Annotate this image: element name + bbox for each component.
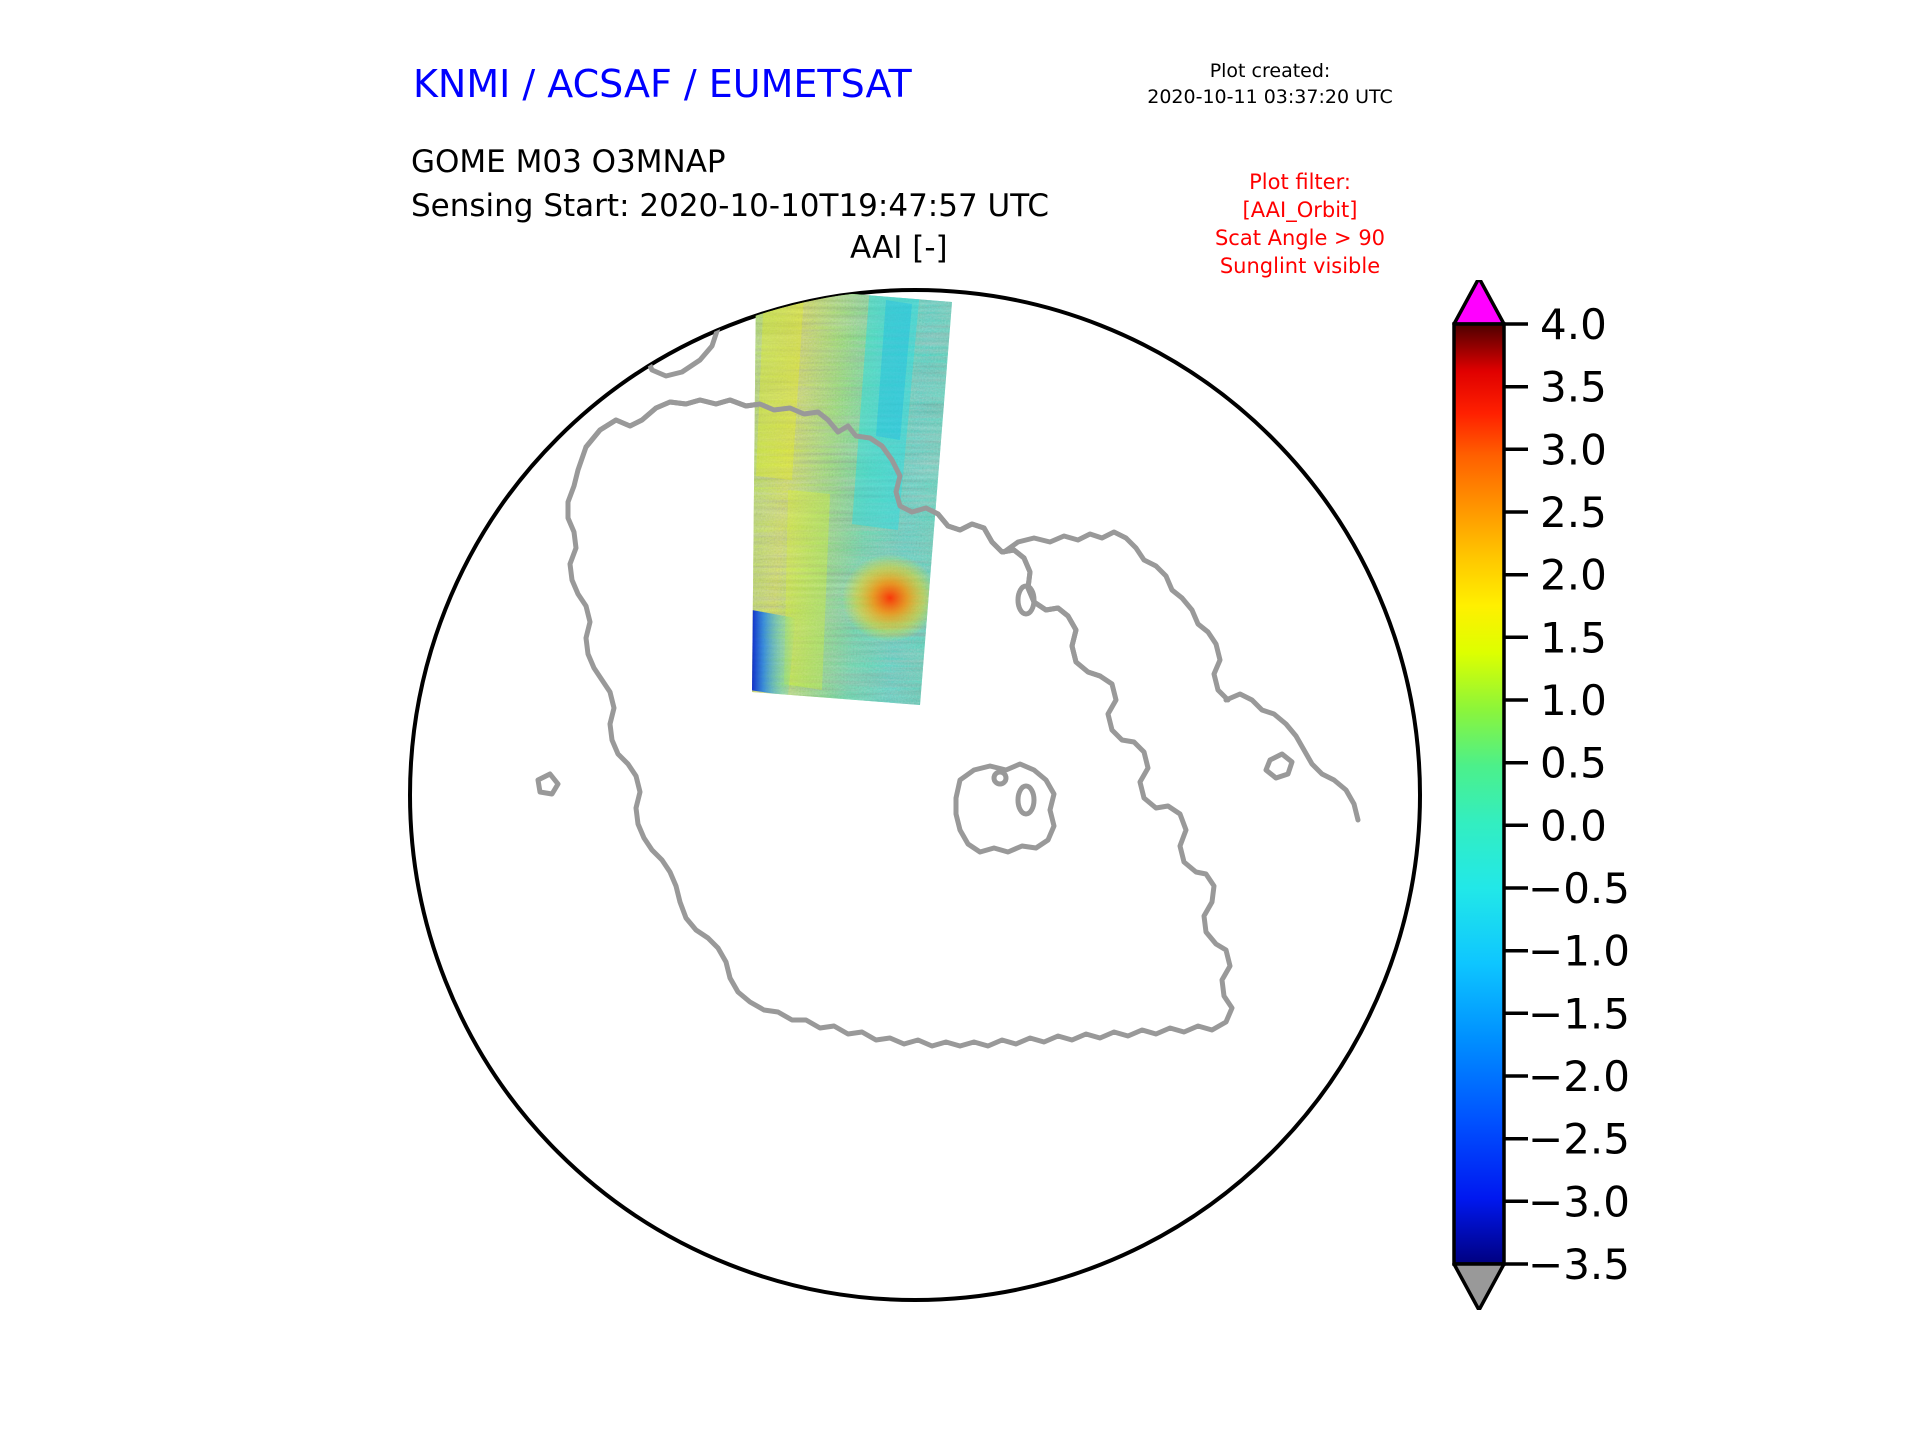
colorbar-over-range-arrow bbox=[1454, 280, 1504, 324]
plot-filter-line-1: [AAI_Orbit] bbox=[1150, 196, 1450, 224]
colorbar-gradient-bar bbox=[1454, 324, 1504, 1264]
plot-created-value: 2020-10-11 03:37:20 UTC bbox=[1100, 84, 1440, 110]
polar-stereographic-map bbox=[400, 280, 1430, 1310]
colorbar-tick-label: 0.5 bbox=[1540, 739, 1607, 788]
colorbar-tick-label: 4.0 bbox=[1540, 300, 1607, 349]
colorbar-tick-label: −1.5 bbox=[1528, 989, 1630, 1038]
plot-created-block: Plot created: 2020-10-11 03:37:20 UTC bbox=[1100, 58, 1440, 110]
colorbar-tick-label: −2.0 bbox=[1528, 1052, 1630, 1101]
plot-filter-label: Plot filter: bbox=[1150, 168, 1450, 196]
plot-created-label: Plot created: bbox=[1100, 58, 1440, 84]
colorbar-tick-label: −1.0 bbox=[1528, 927, 1630, 976]
colorbar-tick-label: 2.0 bbox=[1540, 551, 1607, 600]
map-panel bbox=[400, 280, 1430, 1310]
colorbar-under-range-arrow bbox=[1454, 1264, 1504, 1310]
colorbar-panel: 4.0 3.5 3.0 2.5 2.0 1.5 1.0 0.5 0.0 −0.5… bbox=[1440, 280, 1860, 1310]
colorbar-tick-label: 1.0 bbox=[1540, 676, 1607, 725]
colorbar-tick-label: 1.5 bbox=[1540, 613, 1607, 662]
colorbar-tick-label: 2.5 bbox=[1540, 488, 1607, 537]
colorbar-tick-label: 3.5 bbox=[1540, 363, 1607, 412]
coastline-new-zealand-north bbox=[714, 280, 740, 324]
plot-filter-line-2: Scat Angle > 90 bbox=[1150, 224, 1450, 252]
colorbar-tick-label: −3.5 bbox=[1528, 1240, 1630, 1289]
colorbar-tick-label: 0.0 bbox=[1540, 801, 1607, 850]
colorbar-tick-label: −3.0 bbox=[1528, 1177, 1630, 1226]
dataset-info-block: GOME M03 O3MNAP Sensing Start: 2020-10-1… bbox=[411, 140, 1049, 228]
colorbar: 4.0 3.5 3.0 2.5 2.0 1.5 1.0 0.5 0.0 −0.5… bbox=[1440, 280, 1860, 1310]
sensing-start: Sensing Start: 2020-10-10T19:47:57 UTC bbox=[411, 184, 1049, 228]
colorbar-tick-label: 3.0 bbox=[1540, 425, 1607, 474]
colorbar-ticks bbox=[1504, 324, 1528, 1264]
dataset-name: GOME M03 O3MNAP bbox=[411, 140, 1049, 184]
plot-filter-block: Plot filter: [AAI_Orbit] Scat Angle > 90… bbox=[1150, 168, 1450, 280]
coastline-limb-sliver bbox=[400, 338, 422, 364]
institutions-title: KNMI / ACSAF / EUMETSAT bbox=[413, 62, 912, 106]
coastline-island-small bbox=[440, 362, 480, 398]
colorbar-tick-labels: 4.0 3.5 3.0 2.5 2.0 1.5 1.0 0.5 0.0 −0.5… bbox=[1528, 300, 1630, 1289]
colorbar-tick-label: −0.5 bbox=[1528, 864, 1630, 913]
colorbar-tick-label: −2.5 bbox=[1528, 1115, 1630, 1164]
page-title: AAI [-] bbox=[850, 230, 948, 266]
plot-filter-line-3: Sunglint visible bbox=[1150, 252, 1450, 280]
